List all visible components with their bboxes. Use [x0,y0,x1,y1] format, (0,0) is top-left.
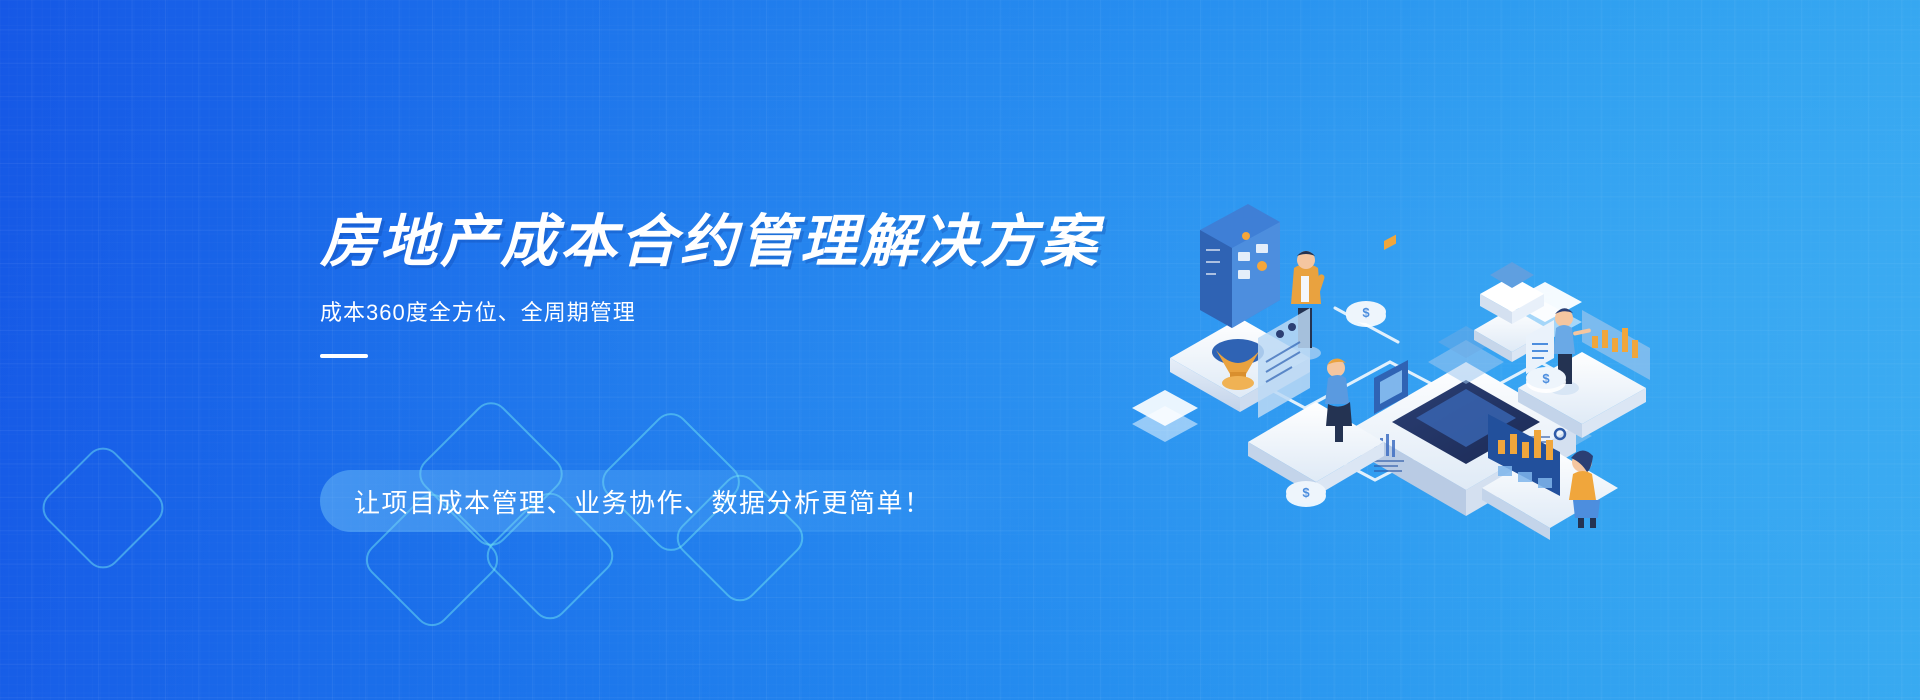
tagline-badge: 让项目成本管理、业务协作、数据分析更简单！ [320,470,1048,532]
dollar-coin-icon: $ [1526,367,1566,393]
title-divider [320,354,368,358]
document-platform [1248,402,1384,496]
svg-text:$: $ [1362,305,1370,320]
isometric-network-illustration: $ $ $ [1130,190,1690,530]
svg-text:$: $ [1542,371,1550,386]
svg-text:$: $ [1302,485,1310,500]
layered-card-icon [1132,390,1198,442]
document-icon [1258,308,1310,418]
calendar-tablet-icon [1200,204,1280,328]
hero-banner: 房地产成本合约管理解决方案 成本360度全方位、全周期管理 让项目成本管理、业务… [0,0,1920,700]
tagline-text: 让项目成本管理、业务协作、数据分析更简单！ [354,483,932,520]
dollar-coin-icon: $ [1346,301,1386,327]
decorative-diamond-cluster [0,370,900,700]
dollar-coin-icon: $ [1286,481,1326,507]
page-subtitle: 成本360度全方位、全周期管理 [320,298,1220,328]
page-title: 房地产成本合约管理解决方案 [320,210,1220,274]
hero-copy-block: 房地产成本合约管理解决方案 成本360度全方位、全周期管理 [320,210,1220,358]
diamond-outline-1 [35,440,171,576]
